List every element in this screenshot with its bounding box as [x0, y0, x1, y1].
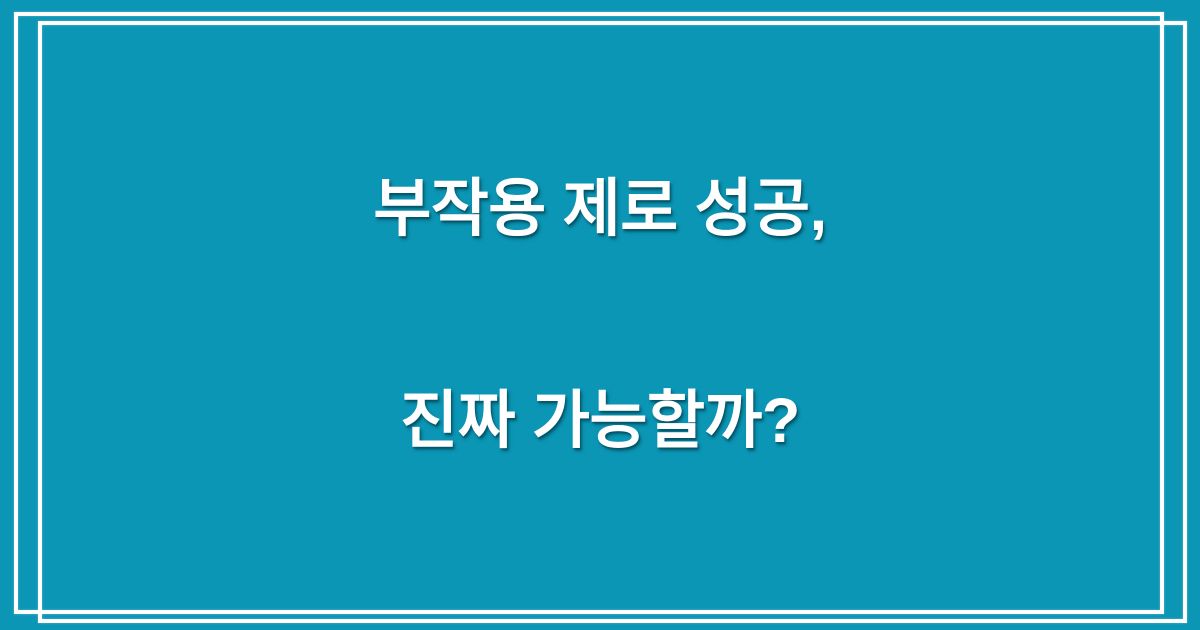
title-line-1: 부작용 제로 성공,	[373, 174, 826, 245]
thumbnail-canvas: 부작용 제로 성공, 진짜 가능할까?	[0, 0, 1200, 630]
page-title: 부작용 제로 성공, 진짜 가능할까?	[313, 33, 886, 597]
title-line-2: 진짜 가능할까?	[373, 386, 826, 457]
headline-container: 부작용 제로 성공, 진짜 가능할까?	[0, 0, 1200, 630]
